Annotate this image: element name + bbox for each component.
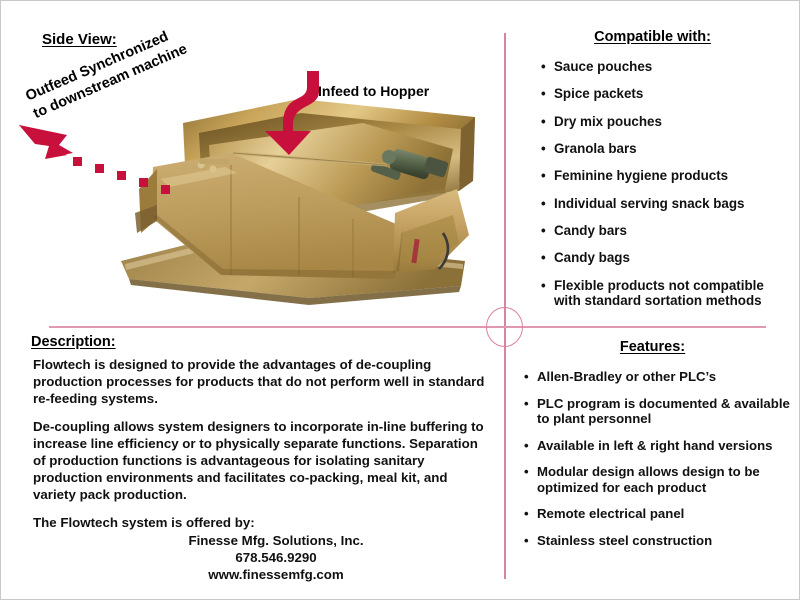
list-item-label: Granola bars — [554, 141, 637, 156]
company-name: Finesse Mfg. Solutions, Inc. — [111, 533, 441, 550]
list-item-label: Stainless steel construction — [537, 533, 712, 548]
bullet-icon: • — [524, 464, 529, 480]
description-paragraph: Flowtech is designed to provide the adva… — [33, 356, 485, 407]
list-item: •Spice packets — [541, 86, 793, 102]
list-item: •Granola bars — [541, 141, 793, 157]
list-item: •Stainless steel construction — [524, 533, 794, 549]
list-item-label: Feminine hygiene products — [554, 168, 728, 183]
contact-block: Finesse Mfg. Solutions, Inc. 678.546.929… — [111, 533, 441, 583]
list-item: •Candy bags — [541, 250, 793, 266]
bullet-icon: • — [541, 59, 546, 75]
list-item: •Allen-Bradley or other PLC’s — [524, 369, 794, 385]
list-item-label: Individual serving snack bags — [554, 196, 745, 211]
infeed-label: Infeed to Hopper — [318, 83, 429, 99]
bullet-icon: • — [541, 196, 546, 212]
list-item-label: Dry mix pouches — [554, 114, 662, 129]
description-body: Flowtech is designed to provide the adva… — [33, 356, 485, 542]
compatible-with-heading: Compatible with: — [504, 29, 800, 45]
website-url[interactable]: www.finessemfg.com — [111, 567, 441, 584]
description-paragraph: The Flowtech system is offered by: — [33, 514, 485, 531]
features-list: •Allen-Bradley or other PLC’s •PLC progr… — [524, 369, 794, 560]
list-item: •PLC program is documented & available t… — [524, 396, 794, 427]
description-paragraph: De-coupling allows system designers to i… — [33, 418, 485, 503]
bullet-icon: • — [541, 278, 546, 294]
list-item: •Feminine hygiene products — [541, 168, 793, 184]
bullet-icon: • — [541, 250, 546, 266]
product-sheet-slide: Side View: — [0, 0, 800, 600]
list-item-label: Candy bags — [554, 250, 630, 265]
description-heading: Description: — [31, 334, 116, 350]
list-item: •Remote electrical panel — [524, 506, 794, 522]
bullet-icon: • — [524, 506, 529, 522]
list-item-label: Flexible products not compatible with st… — [554, 278, 764, 309]
list-item-label: Sauce pouches — [554, 59, 652, 74]
list-item-label: Modular design allows design to be optim… — [537, 464, 760, 495]
list-item-label: Allen-Bradley or other PLC’s — [537, 369, 716, 384]
list-item: •Individual serving snack bags — [541, 196, 793, 212]
outfeed-arrow-dashes — [73, 157, 170, 194]
list-item-label: Spice packets — [554, 86, 643, 101]
list-item: •Flexible products not compatible with s… — [541, 278, 793, 310]
list-item-label: Remote electrical panel — [537, 506, 684, 521]
compatible-with-list: •Sauce pouches •Spice packets •Dry mix p… — [541, 59, 793, 321]
horizontal-divider — [49, 326, 766, 328]
bullet-icon: • — [524, 533, 529, 549]
list-item-label: Available in left & right hand versions — [537, 438, 772, 453]
bullet-icon: • — [524, 396, 529, 412]
list-item: •Candy bars — [541, 223, 793, 239]
list-item: •Sauce pouches — [541, 59, 793, 75]
list-item: •Dry mix pouches — [541, 114, 793, 130]
bullet-icon: • — [541, 141, 546, 157]
phone-number: 678.546.9290 — [111, 550, 441, 567]
list-item-label: Candy bars — [554, 223, 627, 238]
bullet-icon: • — [524, 369, 529, 385]
list-item: •Modular design allows design to be opti… — [524, 464, 794, 495]
bullet-icon: • — [524, 438, 529, 454]
vertical-divider — [504, 33, 506, 579]
side-view-heading: Side View: — [42, 31, 117, 48]
list-item-label: PLC program is documented & available to… — [537, 396, 790, 427]
list-item: •Available in left & right hand versions — [524, 438, 794, 454]
outfeed-arrow-icon — [15, 113, 225, 203]
bullet-icon: • — [541, 223, 546, 239]
bullet-icon: • — [541, 114, 546, 130]
features-heading: Features: — [504, 339, 800, 355]
bullet-icon: • — [541, 168, 546, 184]
bullet-icon: • — [541, 86, 546, 102]
